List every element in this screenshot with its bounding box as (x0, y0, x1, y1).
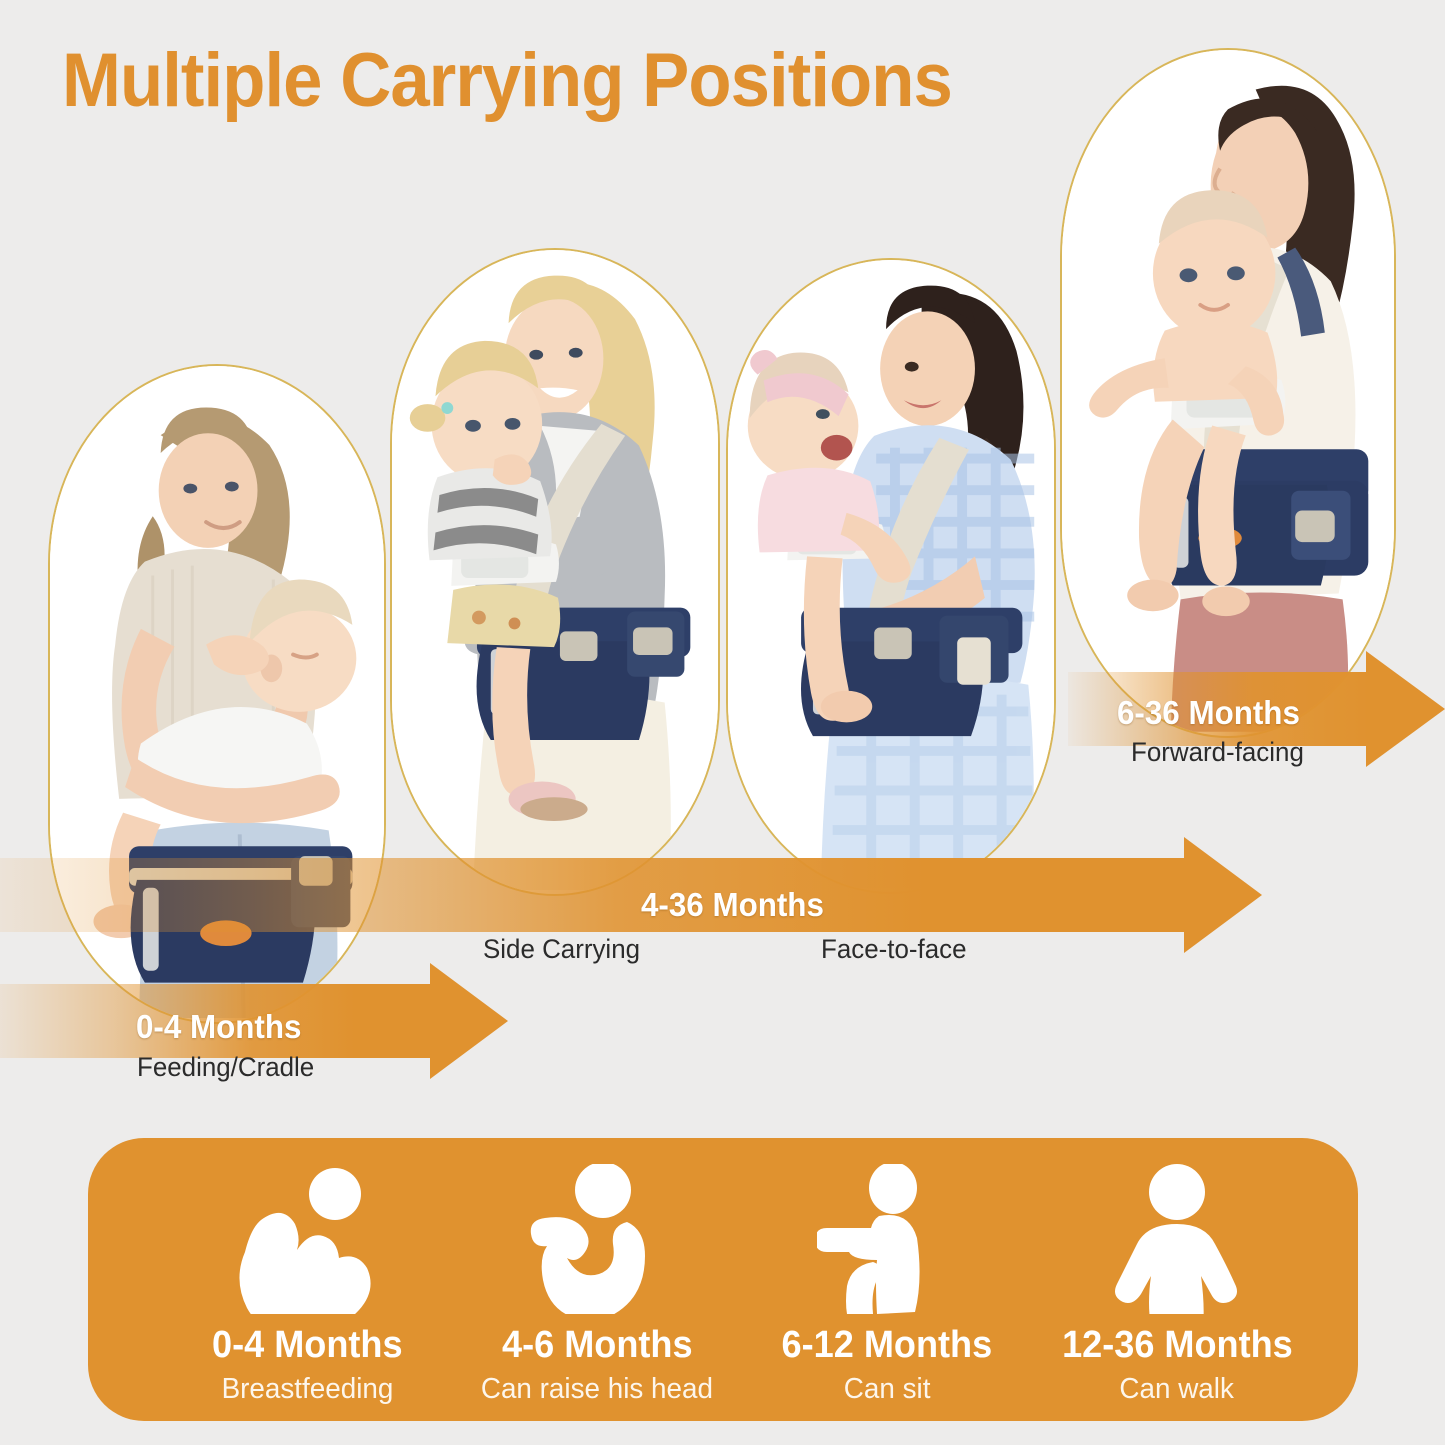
arrow-6-36-months-label: 6-36 Months (1117, 694, 1300, 732)
arrow-0-4-months-label: 0-4 Months (136, 1008, 301, 1046)
stage-breastfeeding: 0-4 Months Breastfeeding (162, 1138, 452, 1421)
stage-desc: Can walk (1120, 1373, 1235, 1406)
baby-sitting-icon (817, 1164, 957, 1314)
stage-months: 4-6 Months (502, 1324, 693, 1367)
arrow-head (1366, 651, 1445, 767)
photo-panel-side-carrying (390, 248, 720, 896)
label-side-carrying: Side Carrying (483, 934, 640, 965)
stage-desc: Breastfeeding (221, 1373, 393, 1406)
infographic-root: Multiple Carrying Positions (0, 0, 1445, 1445)
page-title: Multiple Carrying Positions (62, 38, 952, 124)
label-forward-facing: Forward-facing (1131, 737, 1304, 768)
stage-months: 12-36 Months (1062, 1324, 1293, 1367)
label-feeding-cradle: Feeding/Cradle (137, 1052, 314, 1083)
stage-months: 0-4 Months (212, 1324, 403, 1367)
baby-raising-head-icon (527, 1164, 667, 1314)
toddler-walking-icon (1107, 1164, 1247, 1314)
stage-can-walk: 12-36 Months Can walk (1032, 1138, 1322, 1421)
photo-panel-face-to-face (726, 258, 1056, 894)
stage-months: 6-12 Months (782, 1324, 993, 1367)
stage-desc: Can raise his head (481, 1373, 713, 1406)
arrow-4-36-months-label: 4-36 Months (641, 886, 824, 924)
arrow-shaft (0, 858, 1186, 932)
photo-face-to-face (728, 260, 1054, 888)
photo-side-carrying (392, 250, 718, 890)
arrow-head (1184, 837, 1262, 953)
photo-forward-facing (1062, 50, 1394, 732)
arrow-4-36-months (0, 858, 1262, 932)
stage-can-sit: 6-12 Months Can sit (742, 1138, 1032, 1421)
stage-raise-head: 4-6 Months Can raise his head (452, 1138, 742, 1421)
growth-stages-banner: 0-4 Months Breastfeeding 4-6 Months Can … (88, 1138, 1358, 1421)
photo-panel-forward-facing (1060, 48, 1396, 738)
label-face-to-face: Face-to-face (821, 934, 967, 965)
stage-desc: Can sit (844, 1373, 931, 1406)
arrow-head (430, 963, 508, 1079)
breastfeeding-baby-icon (237, 1164, 377, 1314)
